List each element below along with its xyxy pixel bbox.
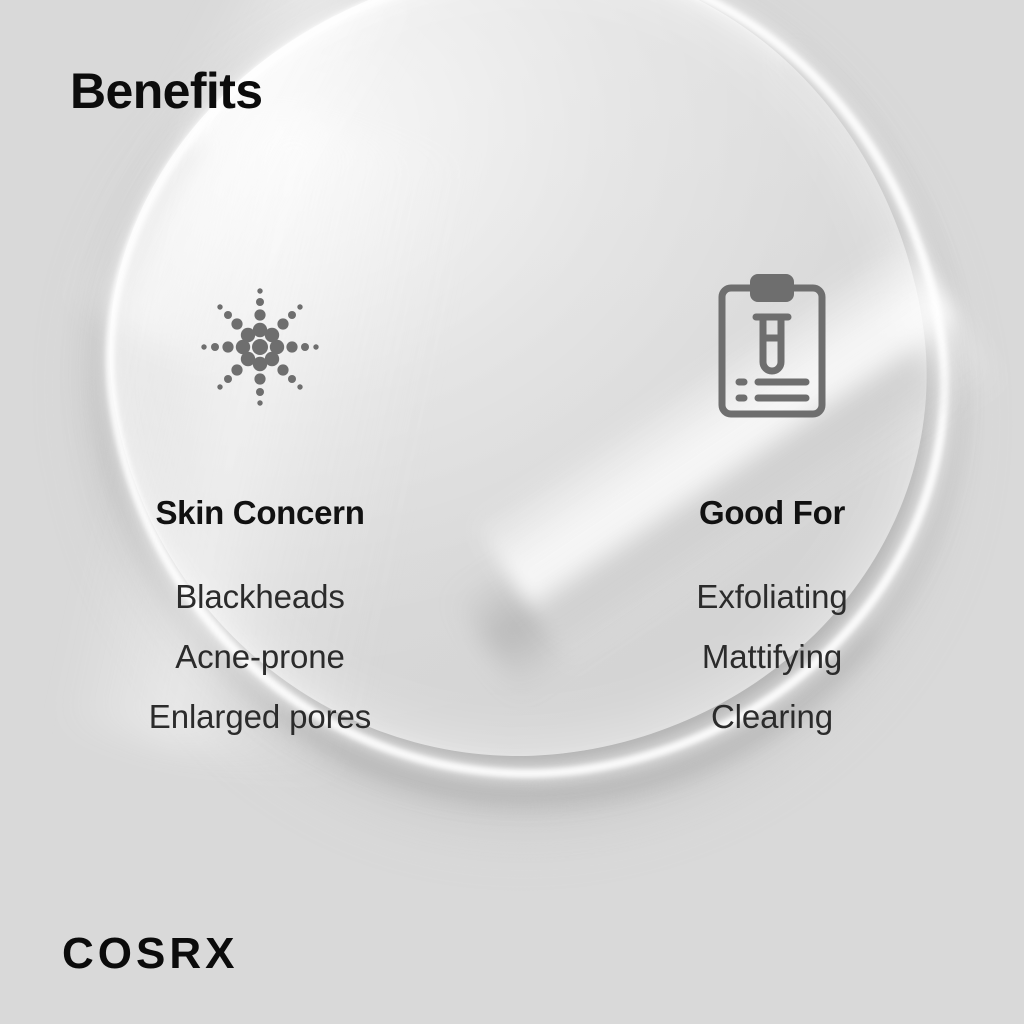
benefit-list-good-for: Exfoliating Mattifying Clearing [696, 567, 847, 747]
card-content: Benefits [0, 0, 1024, 1024]
list-item: Enlarged pores [149, 687, 371, 747]
benefit-list-skin-concern: Blackheads Acne-prone Enlarged pores [149, 567, 371, 747]
brand-logo-cosrx: COSRX [62, 932, 238, 976]
benefits-columns: Skin Concern Blackheads Acne-prone Enlar… [0, 262, 1024, 747]
column-heading-good-for: Good For [699, 496, 845, 529]
list-item: Acne-prone [175, 627, 345, 687]
list-item: Clearing [711, 687, 833, 747]
list-item: Mattifying [702, 627, 842, 687]
pore-burst-icon [185, 262, 335, 432]
list-item: Blackheads [175, 567, 345, 627]
list-item: Exfoliating [696, 567, 847, 627]
clipboard-test-tube-icon [713, 262, 831, 432]
benefit-column-good-for: Good For Exfoliating Mattifying Clearing [520, 262, 1024, 747]
column-heading-skin-concern: Skin Concern [155, 496, 364, 529]
product-benefits-card: Benefits [0, 0, 1024, 1024]
page-title: Benefits [70, 66, 262, 116]
benefit-column-skin-concern: Skin Concern Blackheads Acne-prone Enlar… [0, 262, 520, 747]
